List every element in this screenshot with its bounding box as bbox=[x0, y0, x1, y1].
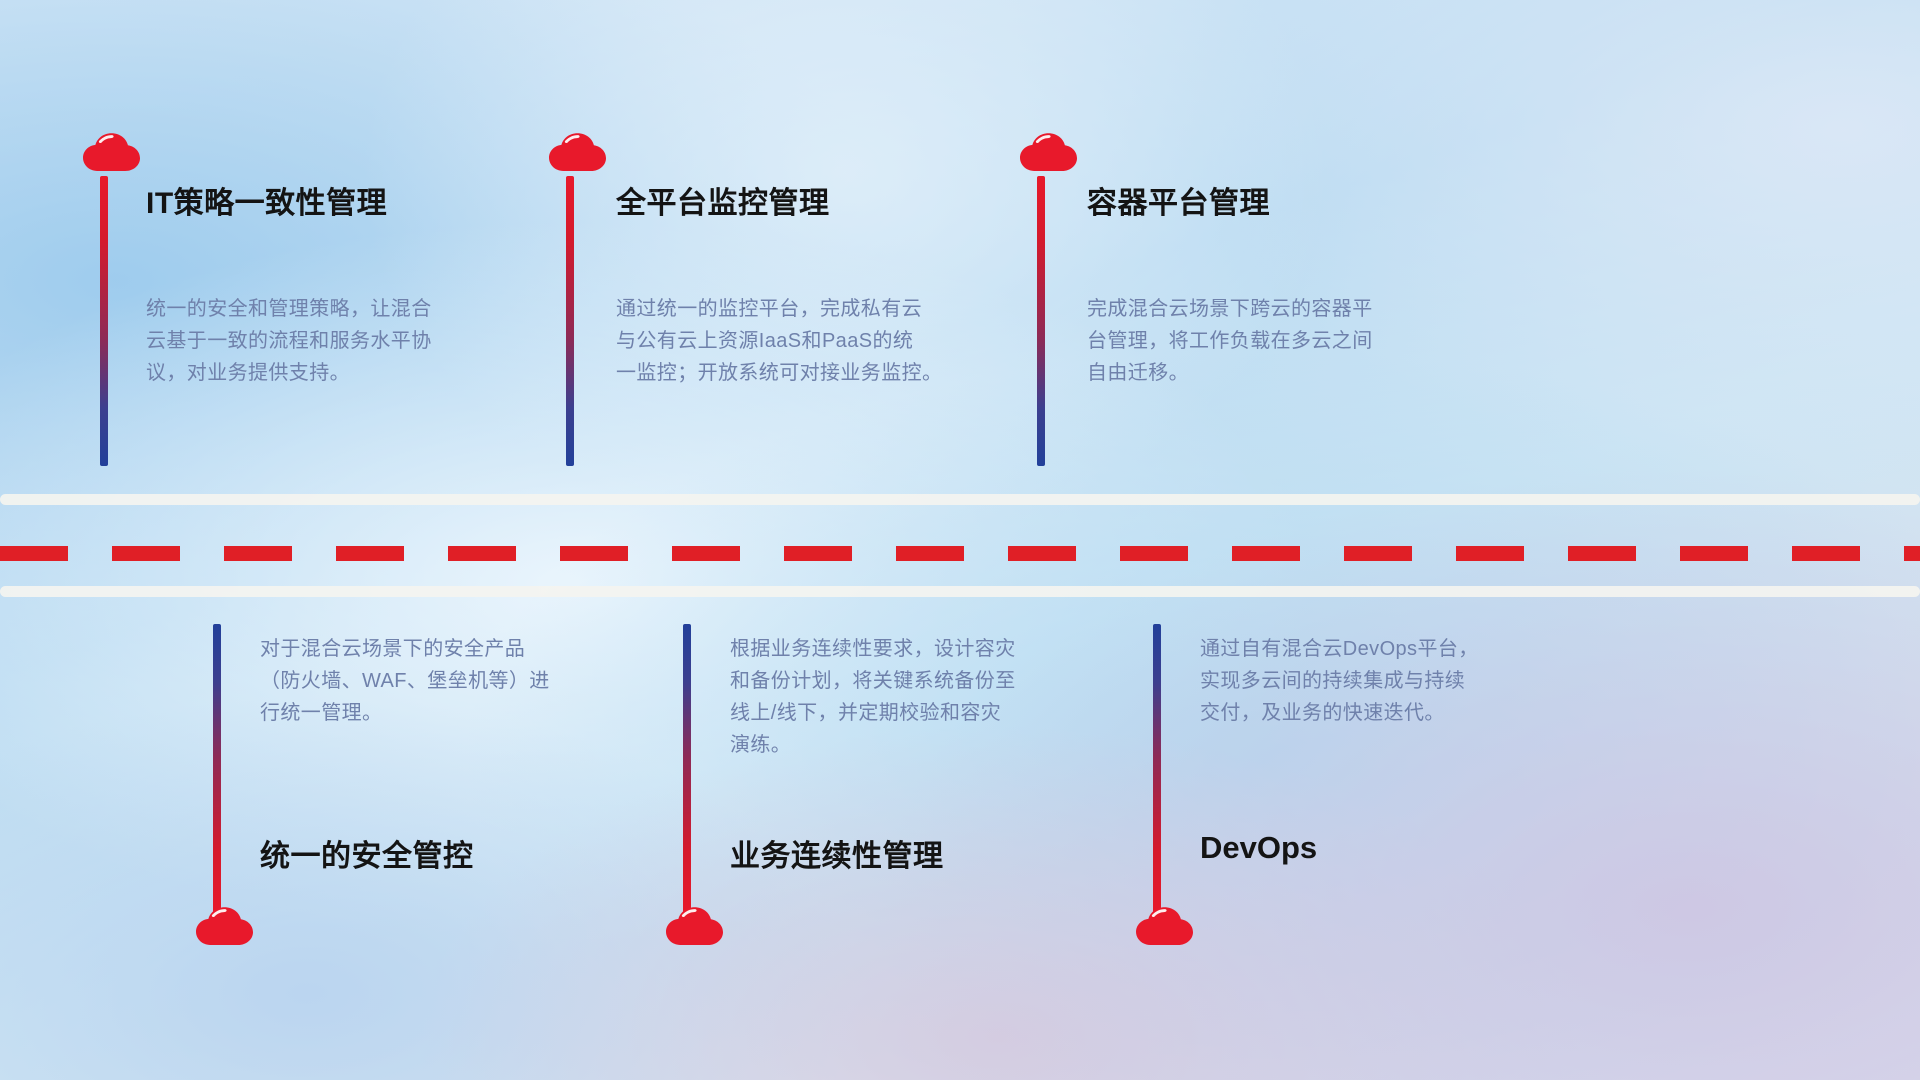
bottom-item-3-body: 通过自有混合云DevOps平台， 实现多云间的持续集成与持续 交付，及业务的快速… bbox=[1200, 633, 1560, 729]
cloud-icon bbox=[80, 131, 142, 181]
bottom-item-2-title: 业务连续性管理 bbox=[730, 831, 944, 875]
body-line: 通过自有混合云DevOps平台， bbox=[1200, 633, 1560, 665]
body-line: 交付，及业务的快速迭代。 bbox=[1200, 697, 1560, 729]
body-line: 实现多云间的持续集成与持续 bbox=[1200, 665, 1560, 697]
background-blob-bottom-right bbox=[0, 0, 1920, 1080]
bottom-item-3-title: DevOps bbox=[1200, 830, 1317, 866]
top-item-1-body: 统一的安全和管理策略，让混合 云基于一致的流程和服务水平协 议，对业务提供支持。 bbox=[146, 293, 506, 389]
body-line: 统一的安全和管理策略，让混合 bbox=[146, 293, 506, 325]
body-line: 议，对业务提供支持。 bbox=[146, 357, 506, 389]
body-line: 演练。 bbox=[730, 729, 1090, 761]
body-line: 云基于一致的流程和服务水平协 bbox=[146, 325, 506, 357]
body-line: （防火墙、WAF、堡垒机等）进 bbox=[260, 665, 620, 697]
stem-connector bbox=[213, 624, 221, 914]
body-line: 根据业务连续性要求，设计容灾 bbox=[730, 633, 1090, 665]
body-line: 行统一管理。 bbox=[260, 697, 620, 729]
infographic-canvas: IT策略一致性管理 统一的安全和管理策略，让混合 云基于一致的流程和服务水平协 … bbox=[0, 0, 1920, 1080]
stem-connector bbox=[683, 624, 691, 914]
body-line: 台管理，将工作负载在多云之间 bbox=[1087, 325, 1467, 357]
stem-connector bbox=[100, 176, 108, 466]
body-line: 一监控；开放系统可对接业务监控。 bbox=[616, 357, 996, 389]
cloud-icon bbox=[1133, 905, 1195, 955]
cloud-icon bbox=[663, 905, 725, 955]
top-item-2-title: 全平台监控管理 bbox=[616, 178, 830, 222]
cloud-icon bbox=[1017, 131, 1079, 181]
body-line: 自由迁移。 bbox=[1087, 357, 1467, 389]
top-item-1-title: IT策略一致性管理 bbox=[146, 178, 387, 222]
bottom-item-1-title: 统一的安全管控 bbox=[260, 831, 474, 875]
top-item-3-body: 完成混合云场景下跨云的容器平 台管理，将工作负载在多云之间 自由迁移。 bbox=[1087, 293, 1467, 389]
road-center-dashed-line bbox=[0, 546, 1920, 561]
bottom-item-2-body: 根据业务连续性要求，设计容灾 和备份计划，将关键系统备份至 线上/线下，并定期校… bbox=[730, 633, 1090, 761]
stem-connector bbox=[566, 176, 574, 466]
stem-connector bbox=[1037, 176, 1045, 466]
road-edge-line-top bbox=[0, 494, 1920, 505]
cloud-icon bbox=[546, 131, 608, 181]
body-line: 线上/线下，并定期校验和容灾 bbox=[730, 697, 1090, 729]
body-line: 通过统一的监控平台，完成私有云 bbox=[616, 293, 996, 325]
body-line: 和备份计划，将关键系统备份至 bbox=[730, 665, 1090, 697]
body-line: 与公有云上资源IaaS和PaaS的统 bbox=[616, 325, 996, 357]
body-line: 对于混合云场景下的安全产品 bbox=[260, 633, 620, 665]
road-edge-line-bottom bbox=[0, 586, 1920, 597]
body-line: 完成混合云场景下跨云的容器平 bbox=[1087, 293, 1467, 325]
cloud-icon bbox=[193, 905, 255, 955]
stem-connector bbox=[1153, 624, 1161, 914]
bottom-item-1-body: 对于混合云场景下的安全产品 （防火墙、WAF、堡垒机等）进 行统一管理。 bbox=[260, 633, 620, 729]
top-item-2-body: 通过统一的监控平台，完成私有云 与公有云上资源IaaS和PaaS的统 一监控；开… bbox=[616, 293, 996, 389]
top-item-3-title: 容器平台管理 bbox=[1087, 178, 1270, 222]
